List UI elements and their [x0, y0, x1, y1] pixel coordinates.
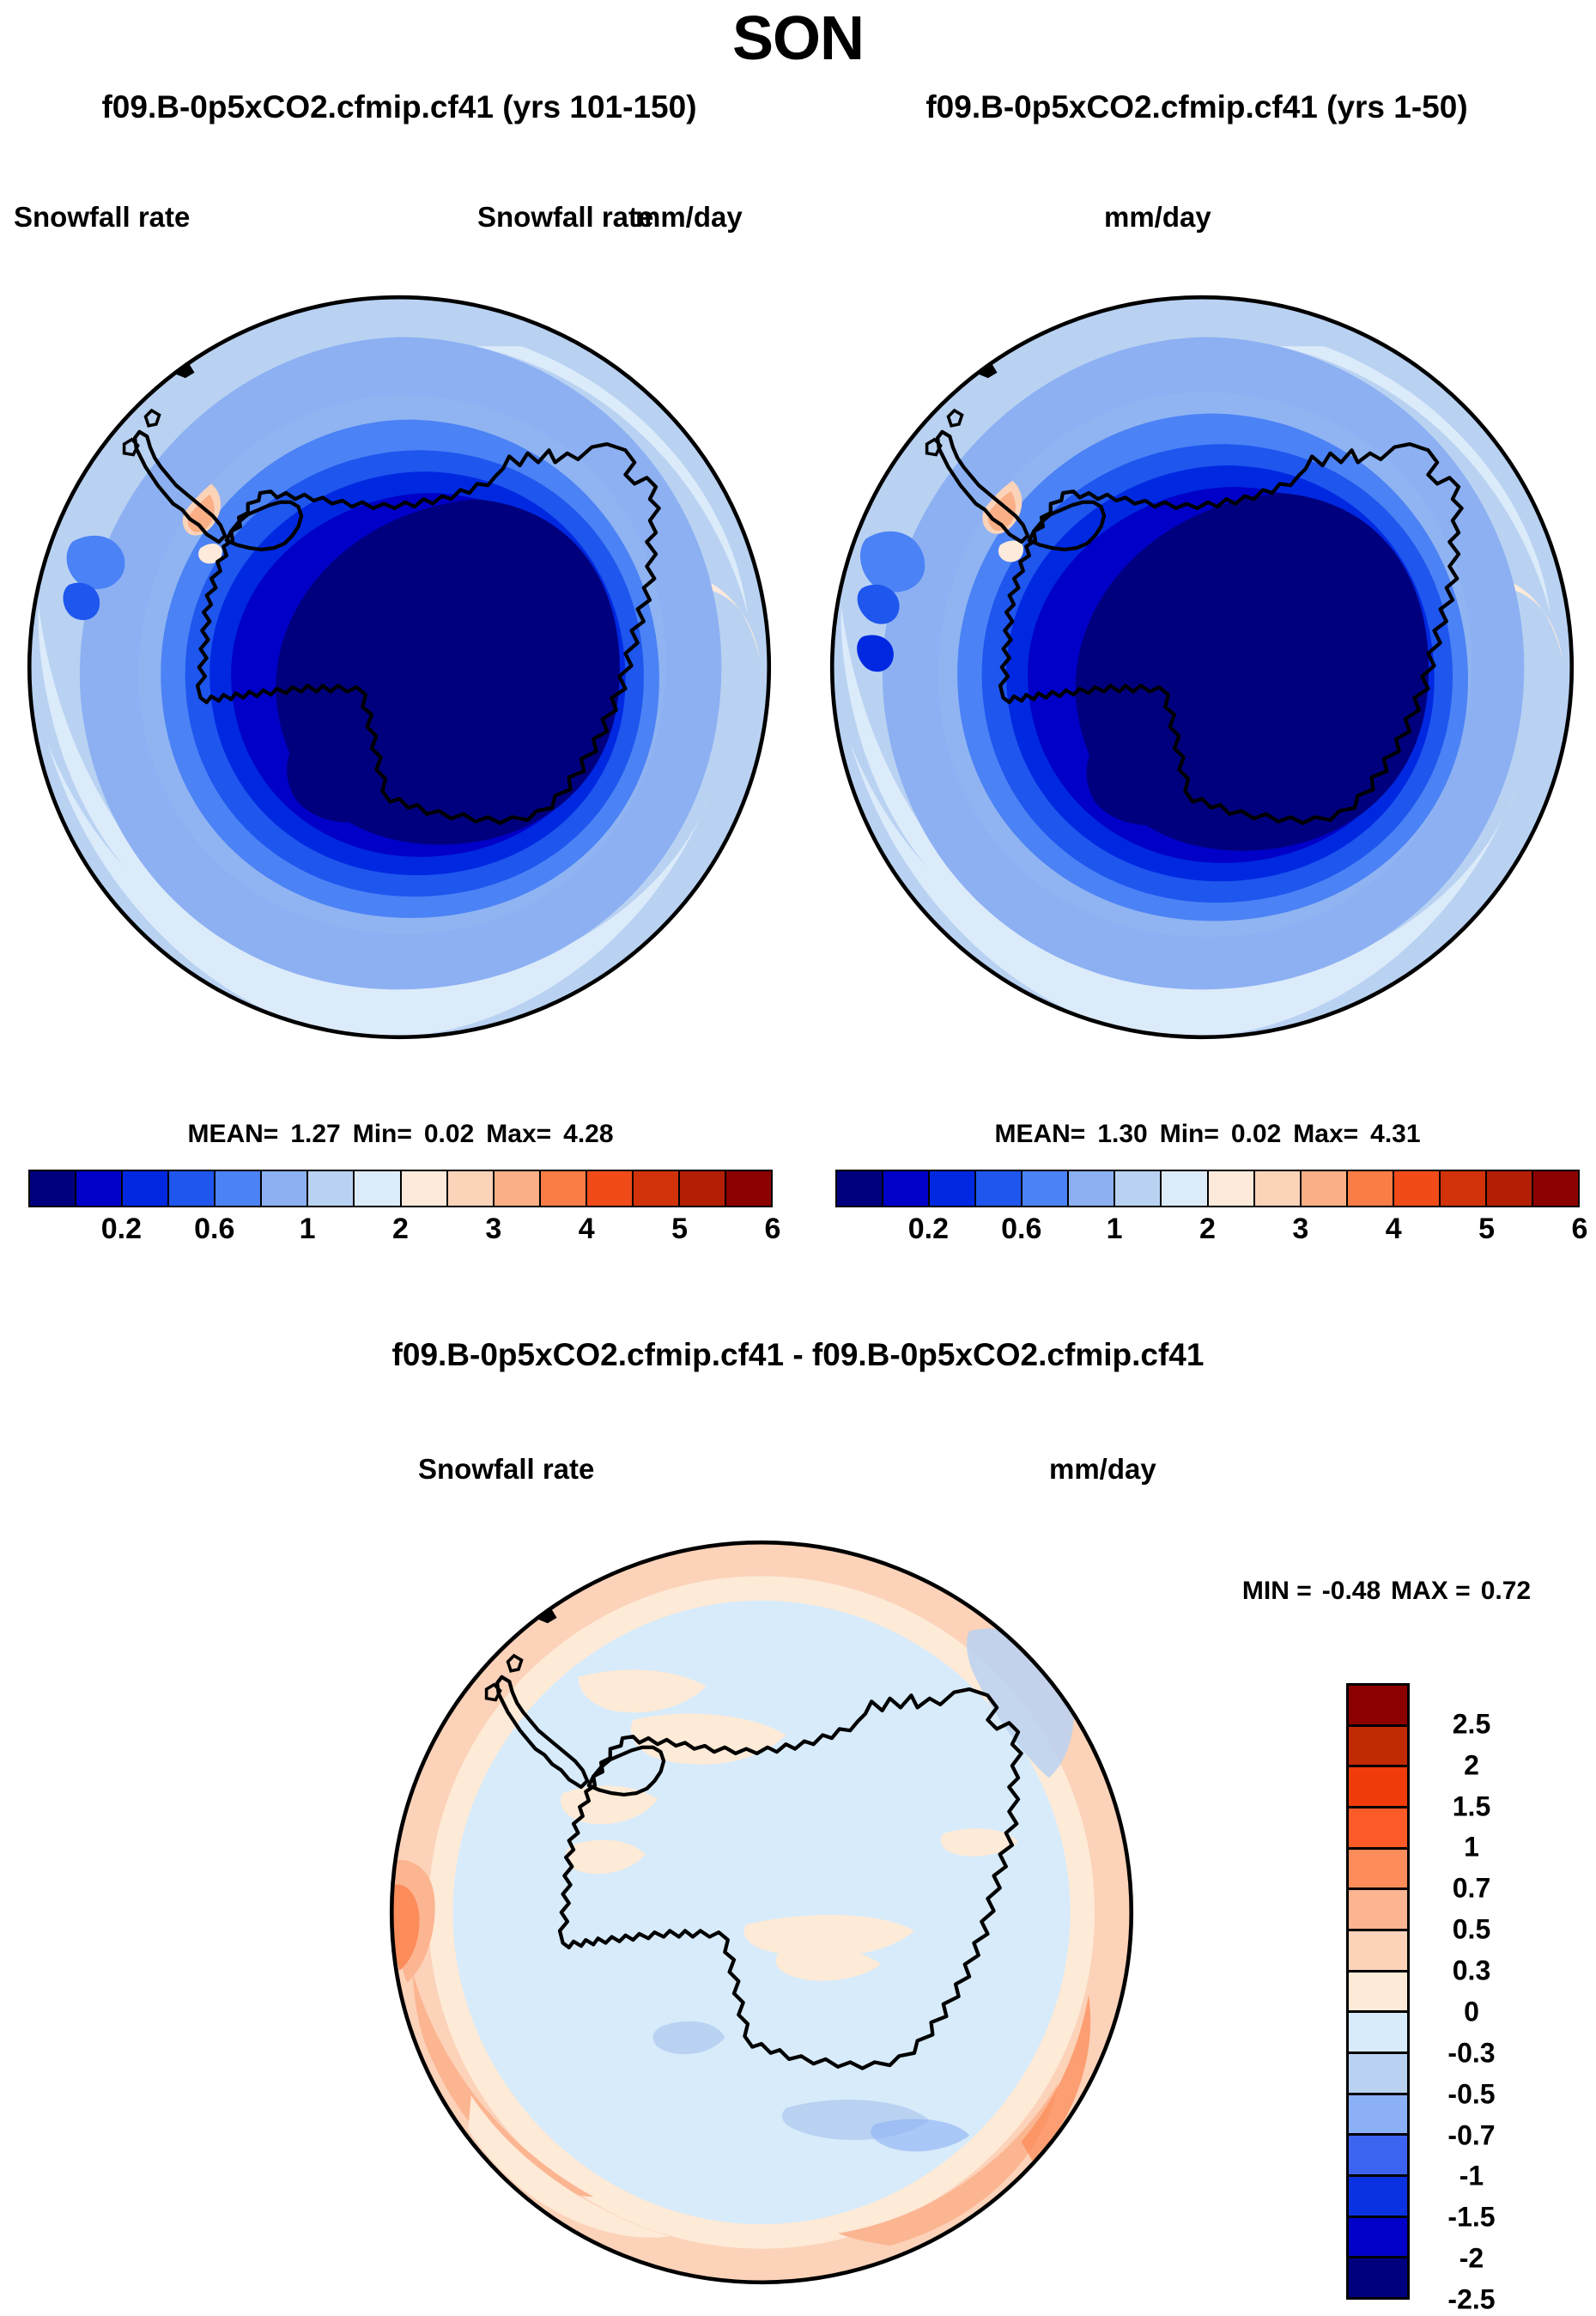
- min-label-diff: MIN =: [1242, 1577, 1312, 1605]
- diff-colorbar-cell-10[interactable]: [1349, 2095, 1407, 2137]
- colorbar-cell-13[interactable]: [634, 1171, 680, 1206]
- diff-colorbar-cell-4[interactable]: [1349, 1850, 1407, 1891]
- colorbar-cell-14[interactable]: [680, 1171, 726, 1206]
- colorbar-cell-4[interactable]: [215, 1171, 262, 1206]
- colorbar-top-left[interactable]: 0.20.6123456: [28, 1170, 773, 1252]
- colorbar-cell-9[interactable]: [448, 1171, 495, 1206]
- stats-top-left: MEAN=1.27Min=0.02Max=4.28: [28, 1120, 773, 1149]
- diff-colorbar-tick-0p3: 0.3: [1420, 1955, 1523, 1987]
- max-value-right: 4.31: [1370, 1120, 1420, 1148]
- max-label-diff: MAX =: [1391, 1577, 1471, 1605]
- colorbar-tick-6: 6: [765, 1213, 781, 1246]
- colorbar-cell-14[interactable]: [1487, 1171, 1533, 1206]
- colorbar-tick-1: 1: [1107, 1213, 1123, 1246]
- map-snowfall-yrs-1-50: [820, 285, 1584, 1049]
- colorbar-cell-5[interactable]: [262, 1171, 308, 1206]
- diff-colorbar-tick-neg1p5: -1.5: [1420, 2202, 1523, 2234]
- diff-colorbar-tick-neg0p3: -0.3: [1420, 2037, 1523, 2069]
- field-label-difference: Snowfall rate: [418, 1453, 594, 1486]
- diff-colorbar-cell-8[interactable]: [1349, 2013, 1407, 2054]
- colorbar-swatches-right[interactable]: [835, 1170, 1580, 1207]
- diff-colorbar-cell-2[interactable]: [1349, 1767, 1407, 1808]
- colorbar-cell-4[interactable]: [1023, 1171, 1069, 1206]
- colorbar-tick-6: 6: [1572, 1213, 1588, 1246]
- diff-colorbar-tick-1: 1: [1420, 1832, 1523, 1863]
- colorbar-cell-0[interactable]: [837, 1171, 883, 1206]
- units-label-top-right: mm/day: [1104, 201, 1211, 234]
- diff-colorbar-tick-0: 0: [1420, 1996, 1523, 2027]
- colorbar-cell-3[interactable]: [169, 1171, 215, 1206]
- colorbar-cell-5[interactable]: [1069, 1171, 1115, 1206]
- colorbar-cell-11[interactable]: [1348, 1171, 1394, 1206]
- colorbar-cell-6[interactable]: [1115, 1171, 1162, 1206]
- colorbar-tick-4: 4: [1386, 1213, 1402, 1246]
- units-label-difference: mm/day: [1049, 1453, 1156, 1486]
- min-label-left: Min=: [353, 1120, 412, 1148]
- diff-colorbar-cell-0[interactable]: [1349, 1686, 1407, 1727]
- colorbar-tick-0.2: 0.2: [101, 1213, 142, 1246]
- colorbar-tick-3: 3: [1292, 1213, 1308, 1246]
- colorbar-cell-0[interactable]: [30, 1171, 76, 1206]
- diff-colorbar-cell-9[interactable]: [1349, 2054, 1407, 2095]
- min-value-right: 0.02: [1231, 1120, 1281, 1148]
- max-label-left: Max=: [486, 1120, 551, 1148]
- colorbar-top-right[interactable]: 0.20.6123456: [835, 1170, 1580, 1252]
- map-snowfall-yrs-101-150: [17, 285, 781, 1049]
- max-label-right: Max=: [1293, 1120, 1358, 1148]
- mean-label-left: MEAN=: [187, 1120, 278, 1148]
- stats-difference: MIN =-0.48MAX =0.72: [1185, 1577, 1588, 1606]
- colorbar-swatches-left[interactable]: [28, 1170, 773, 1207]
- diff-colorbar-cell-13[interactable]: [1349, 2218, 1407, 2259]
- colorbar-tick-4: 4: [579, 1213, 595, 1246]
- colorbar-cell-12[interactable]: [1394, 1171, 1441, 1206]
- colorbar-cell-7[interactable]: [355, 1171, 401, 1206]
- colorbar-cell-2[interactable]: [123, 1171, 169, 1206]
- diff-colorbar-cell-1[interactable]: [1349, 1727, 1407, 1768]
- map-snowfall-difference: [379, 1530, 1144, 2295]
- case-title-difference: f09.B-0p5xCO2.cfmip.cf41 - f09.B-0p5xCO2…: [0, 1337, 1596, 1373]
- diff-colorbar-cell-11[interactable]: [1349, 2136, 1407, 2177]
- colorbar-tick-2: 2: [392, 1213, 409, 1246]
- diff-colorbar-cell-14[interactable]: [1349, 2258, 1407, 2297]
- colorbar-labels-left: 0.20.6123456: [28, 1213, 773, 1252]
- diff-colorbar-tick-neg2: -2: [1420, 2243, 1523, 2275]
- diff-colorbar-tick-1p5: 1.5: [1420, 1790, 1523, 1822]
- stats-top-right: MEAN=1.30Min=0.02Max=4.31: [835, 1120, 1580, 1149]
- diff-colorbar-cell-5[interactable]: [1349, 1890, 1407, 1931]
- diff-colorbar-tick-neg1: -1: [1420, 2161, 1523, 2192]
- colorbar-cell-13[interactable]: [1441, 1171, 1487, 1206]
- colorbar-cell-3[interactable]: [976, 1171, 1023, 1206]
- season-title: SON: [0, 3, 1596, 74]
- colorbar-tick-2: 2: [1199, 1213, 1216, 1246]
- colorbar-cell-15[interactable]: [1533, 1171, 1578, 1206]
- diff-colorbar-cell-3[interactable]: [1349, 1808, 1407, 1850]
- mean-value-left: 1.27: [290, 1120, 340, 1148]
- diff-colorbar-cell-7[interactable]: [1349, 1973, 1407, 2014]
- diff-colorbar-tick-neg0p5: -0.5: [1420, 2078, 1523, 2110]
- colorbar-cell-10[interactable]: [1302, 1171, 1348, 1206]
- colorbar-tick-3: 3: [485, 1213, 501, 1246]
- diff-colorbar-cell-6[interactable]: [1349, 1931, 1407, 1973]
- field-label-top-right: Snowfall rate: [477, 201, 653, 234]
- diff-colorbar-tick-0p7: 0.7: [1420, 1873, 1523, 1905]
- diff-colorbar-tick-neg0p7: -0.7: [1420, 2119, 1523, 2151]
- colorbar-cell-12[interactable]: [587, 1171, 634, 1206]
- colorbar-cell-8[interactable]: [402, 1171, 448, 1206]
- min-label-right: Min=: [1160, 1120, 1219, 1148]
- diff-colorbar-tick-2: 2: [1420, 1749, 1523, 1781]
- max-value-left: 4.28: [563, 1120, 613, 1148]
- colorbar-cell-2[interactable]: [930, 1171, 976, 1206]
- colorbar-tick-5: 5: [671, 1213, 688, 1246]
- colorbar-difference-labels: 2.521.510.70.50.30-0.3-0.5-0.7-1-1.5-2-2…: [1420, 1683, 1540, 2300]
- colorbar-tick-5: 5: [1478, 1213, 1495, 1246]
- diff-colorbar-tick-2p5: 2.5: [1420, 1708, 1523, 1740]
- min-value-diff: -0.48: [1322, 1577, 1381, 1605]
- colorbar-cell-7[interactable]: [1162, 1171, 1208, 1206]
- colorbar-tick-0.2: 0.2: [908, 1213, 949, 1246]
- diff-colorbar-tick-0p5: 0.5: [1420, 1914, 1523, 1946]
- case-title-top-right: f09.B-0p5xCO2.cfmip.cf41 (yrs 1-50): [798, 89, 1596, 125]
- mean-value-right: 1.30: [1097, 1120, 1147, 1148]
- colorbar-cell-10[interactable]: [495, 1171, 541, 1206]
- min-value-left: 0.02: [424, 1120, 474, 1148]
- colorbar-difference-swatches[interactable]: [1346, 1683, 1410, 2300]
- colorbar-tick-0.6: 0.6: [1001, 1213, 1041, 1246]
- colorbar-cell-11[interactable]: [541, 1171, 587, 1206]
- case-title-top-left: f09.B-0p5xCO2.cfmip.cf41 (yrs 101-150): [0, 89, 798, 125]
- colorbar-tick-0.6: 0.6: [194, 1213, 234, 1246]
- colorbar-cell-8[interactable]: [1209, 1171, 1255, 1206]
- mean-label-right: MEAN=: [994, 1120, 1085, 1148]
- colorbar-cell-15[interactable]: [726, 1171, 771, 1206]
- field-label-top-left: Snowfall rate: [14, 201, 190, 234]
- colorbar-cell-1[interactable]: [76, 1171, 123, 1206]
- colorbar-cell-6[interactable]: [308, 1171, 355, 1206]
- diff-colorbar-cell-12[interactable]: [1349, 2177, 1407, 2218]
- colorbar-labels-right: 0.20.6123456: [835, 1213, 1580, 1252]
- colorbar-tick-1: 1: [300, 1213, 316, 1246]
- diff-colorbar-tick-neg2p5: -2.5: [1420, 2284, 1523, 2316]
- colorbar-cell-9[interactable]: [1255, 1171, 1302, 1206]
- max-value-diff: 0.72: [1481, 1577, 1531, 1605]
- colorbar-cell-1[interactable]: [883, 1171, 930, 1206]
